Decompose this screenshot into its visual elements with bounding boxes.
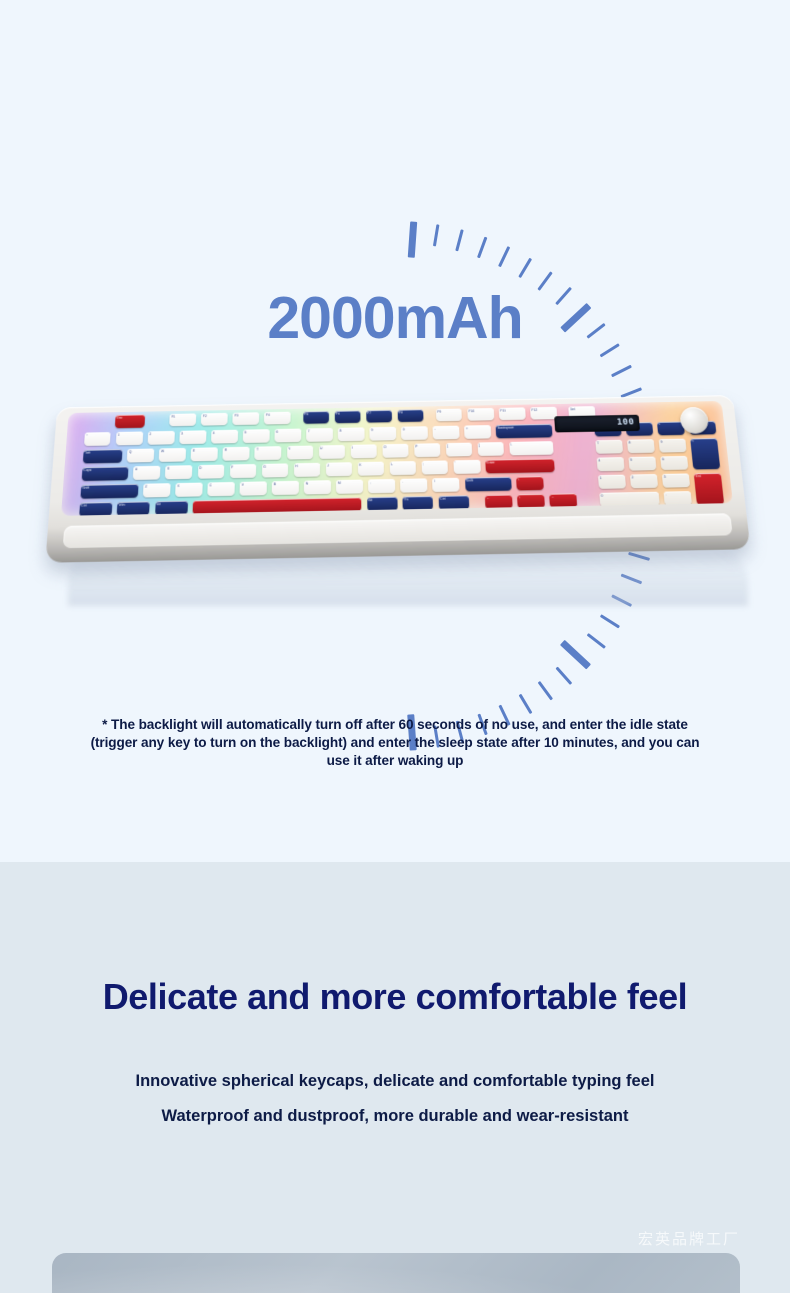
keycap[interactable]: 5 bbox=[628, 457, 656, 471]
gauge-tick bbox=[586, 633, 605, 649]
gauge-tick bbox=[455, 229, 464, 251]
gauge-tick bbox=[433, 224, 440, 246]
keycap[interactable]: Tab bbox=[83, 449, 123, 463]
keycap[interactable]: Alt bbox=[367, 497, 398, 511]
keycap[interactable]: 6 bbox=[660, 456, 688, 470]
keycap[interactable]: 2 bbox=[147, 431, 174, 445]
gauge-tick bbox=[477, 237, 488, 259]
keycap[interactable]: Z bbox=[143, 483, 170, 497]
keycap[interactable]: Enter bbox=[485, 459, 555, 474]
keycap[interactable]: ← bbox=[485, 495, 513, 509]
keycap[interactable]: P bbox=[414, 443, 441, 457]
keycap[interactable]: E bbox=[191, 448, 218, 462]
product-detail-page: 2000mAh EscF1F2F3F4F5F6F7F8F9F10F11F12De… bbox=[0, 0, 790, 1293]
keycap[interactable]: B bbox=[272, 481, 299, 495]
keycap[interactable]: ~ bbox=[84, 432, 111, 446]
keycap[interactable]: 2 bbox=[630, 474, 658, 488]
keycap[interactable]: 1 bbox=[116, 432, 143, 446]
keycap[interactable]: K bbox=[358, 462, 385, 476]
keycap[interactable]: G bbox=[262, 464, 289, 478]
keycap[interactable]: D bbox=[197, 465, 224, 479]
keycap[interactable]: F5 bbox=[303, 411, 329, 424]
keycap[interactable]: J bbox=[326, 462, 353, 476]
keycap[interactable]: 7 bbox=[595, 440, 622, 454]
keycap[interactable]: 8 bbox=[338, 428, 364, 442]
keycap[interactable]: F10 bbox=[467, 408, 494, 420]
keycap[interactable]: Shift bbox=[80, 484, 138, 499]
keycap[interactable]: 9 bbox=[370, 427, 397, 441]
keycap[interactable]: H bbox=[294, 463, 321, 477]
keycap[interactable]: T bbox=[255, 446, 282, 460]
keycap[interactable]: O bbox=[382, 444, 409, 458]
keycap[interactable]: 9 bbox=[659, 439, 687, 453]
keycap[interactable]: ; bbox=[421, 461, 448, 475]
gauge-tick bbox=[408, 221, 417, 257]
feel-subtitle-2: Waterproof and dustproof, more durable a… bbox=[0, 1107, 790, 1126]
keycap[interactable]: ] bbox=[477, 442, 504, 456]
keycap[interactable]: . bbox=[400, 479, 427, 493]
keycap[interactable]: [ bbox=[446, 443, 473, 457]
keycap[interactable]: Win bbox=[117, 502, 150, 516]
keycap[interactable]: M bbox=[336, 480, 363, 494]
gauge-tick bbox=[555, 667, 572, 686]
keycap[interactable]: 3 bbox=[662, 474, 690, 488]
keycap[interactable]: A bbox=[133, 466, 160, 480]
keycap[interactable]: / bbox=[433, 478, 460, 492]
keycap[interactable]: ' bbox=[453, 460, 480, 474]
keycap[interactable]: 5 bbox=[243, 429, 270, 443]
keycap[interactable]: C bbox=[207, 482, 234, 496]
keycap[interactable]: Y bbox=[287, 446, 314, 460]
keycap[interactable]: . bbox=[664, 491, 692, 505]
gauge-tick bbox=[518, 694, 532, 715]
gauge-tick bbox=[537, 681, 553, 701]
keycap[interactable]: F2 bbox=[201, 413, 228, 426]
keycap[interactable]: F6 bbox=[334, 411, 360, 424]
keycap[interactable]: ↓ bbox=[517, 494, 545, 508]
keycap[interactable]: 0 bbox=[401, 426, 428, 440]
battery-capacity-label: 2000mAh bbox=[0, 289, 790, 348]
keycap[interactable]: X bbox=[175, 483, 202, 497]
brand-watermark: 宏英品牌工厂 bbox=[638, 1228, 740, 1249]
keycap[interactable]: S bbox=[165, 465, 192, 479]
oled-display-value: 100 bbox=[616, 418, 634, 428]
keycap[interactable]: F4 bbox=[264, 412, 290, 425]
feel-section-title: Delicate and more comfortable feel bbox=[0, 976, 790, 1018]
keycap[interactable]: 1 bbox=[598, 475, 626, 489]
keycap[interactable]: 7 bbox=[306, 428, 332, 442]
keycap[interactable]: F1 bbox=[169, 414, 196, 427]
product-photo-panel bbox=[52, 1253, 740, 1293]
keycap[interactable]: Ctrl bbox=[79, 502, 112, 516]
keycap[interactable]: F7 bbox=[366, 410, 392, 423]
keycap[interactable]: 8 bbox=[627, 439, 655, 453]
keyboard-body: EscF1F2F3F4F5F6F7F8F9F10F11F12Del~123456… bbox=[45, 390, 751, 567]
keycap[interactable]: F11 bbox=[499, 408, 526, 420]
keycap[interactable]: L bbox=[389, 461, 416, 475]
keycap[interactable]: ↑ bbox=[516, 476, 543, 490]
keycap[interactable]: Esc bbox=[115, 415, 146, 429]
backlight-disclaimer: * The backlight will automatically turn … bbox=[78, 716, 712, 770]
keycap[interactable]: Fn bbox=[403, 496, 434, 510]
keycap[interactable]: + bbox=[690, 438, 720, 469]
keycap[interactable]: \ bbox=[509, 441, 554, 455]
keycap[interactable]: 0 bbox=[599, 492, 659, 507]
keycap[interactable]: 3 bbox=[179, 431, 206, 445]
keycap[interactable]: F3 bbox=[233, 412, 260, 425]
keycap[interactable]: W bbox=[159, 448, 186, 462]
keycap[interactable]: → bbox=[549, 494, 577, 508]
battery-section: 2000mAh EscF1F2F3F4F5F6F7F8F9F10F11F12De… bbox=[0, 0, 790, 862]
keycap[interactable]: V bbox=[240, 482, 267, 496]
gauge-tick bbox=[611, 365, 632, 378]
keycap[interactable]: F9 bbox=[436, 409, 463, 422]
feel-subtitle-1: Innovative spherical keycaps, delicate a… bbox=[0, 1072, 790, 1091]
gauge-tick bbox=[600, 614, 620, 629]
keycap[interactable]: 4 bbox=[211, 430, 238, 444]
oled-display: 100 bbox=[554, 415, 640, 433]
keycap[interactable]: F bbox=[229, 464, 256, 478]
keycap[interactable]: 6 bbox=[275, 429, 302, 443]
keycap[interactable]: Ctrl bbox=[438, 496, 469, 510]
keycap[interactable]: Alt bbox=[155, 501, 188, 515]
keycap[interactable]: 4 bbox=[597, 457, 625, 471]
keycap[interactable]: Shift bbox=[465, 477, 512, 491]
keycap[interactable]: = bbox=[464, 425, 491, 439]
keyboard-image: EscF1F2F3F4F5F6F7F8F9F10F11F12Del~123456… bbox=[40, 392, 752, 607]
keycap[interactable]: F12 bbox=[530, 407, 557, 419]
keycap[interactable]: Backspace bbox=[496, 424, 553, 438]
keycap[interactable]: I bbox=[350, 445, 377, 459]
gauge-tick bbox=[518, 258, 532, 279]
gauge-tick bbox=[560, 640, 591, 669]
keycap[interactable]: Ent bbox=[694, 473, 724, 505]
gauge-tick bbox=[498, 246, 511, 267]
keycap[interactable]: , bbox=[368, 479, 395, 493]
keyboard-plate: EscF1F2F3F4F5F6F7F8F9F10F11F12Del~123456… bbox=[61, 401, 733, 516]
keycap[interactable]: U bbox=[319, 445, 346, 459]
keycap[interactable]: R bbox=[223, 447, 250, 461]
keycap[interactable]: - bbox=[433, 426, 460, 440]
keycap[interactable]: Q bbox=[127, 449, 154, 463]
keycap[interactable]: F8 bbox=[397, 409, 424, 422]
